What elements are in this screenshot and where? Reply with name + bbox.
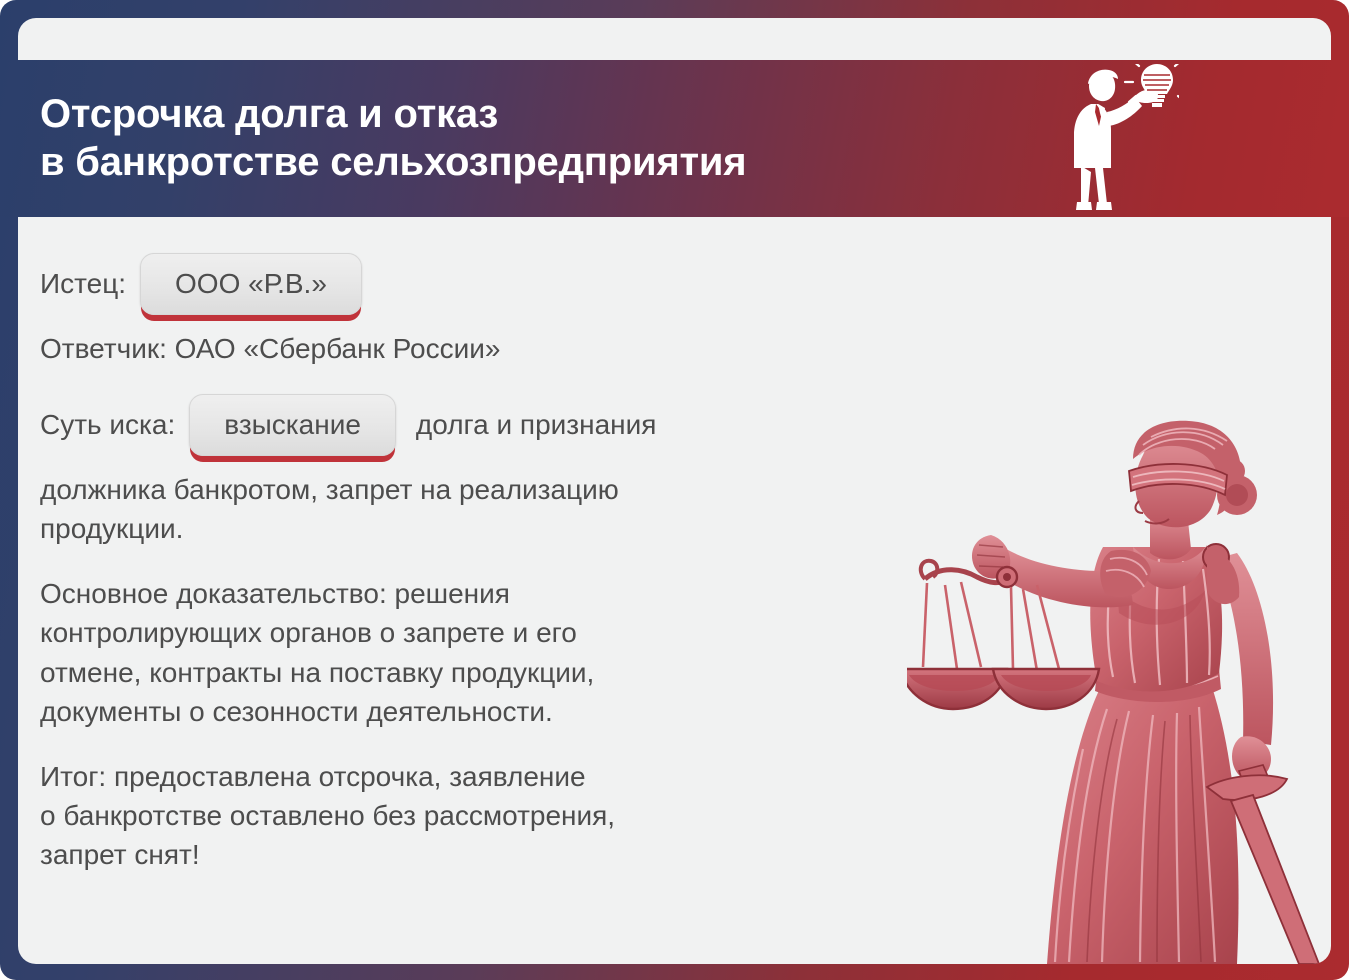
businessman-with-lightbulb-icon xyxy=(1069,64,1179,214)
plaintiff-label: Истец: xyxy=(40,264,126,303)
page-title: Отсрочка долга и отказ в банкротстве сел… xyxy=(0,91,1069,185)
claim-label: Суть иска: xyxy=(40,405,175,444)
body-content: Истец: ООО «Р.В.» Ответчик: ОАО «Сбербан… xyxy=(18,217,1331,964)
claim-badge[interactable]: взыскание xyxy=(189,394,396,456)
header-band: Отсрочка долга и отказ в банкротстве сел… xyxy=(0,60,1349,217)
claim-tail-text: долга и признания xyxy=(416,405,657,444)
outcome-paragraph: Итог: предоставлена отсрочка, заявление … xyxy=(40,757,920,875)
slide-frame: Истец: ООО «Р.В.» Ответчик: ОАО «Сбербан… xyxy=(0,0,1349,980)
plaintiff-row: Истец: ООО «Р.В.» xyxy=(40,253,1291,315)
evidence-paragraph: Основное доказательство: решения контрол… xyxy=(40,574,920,731)
claim-row: Суть иска: взыскание долга и признания xyxy=(40,394,1291,456)
plaintiff-badge[interactable]: ООО «Р.В.» xyxy=(140,253,362,315)
claim-continuation: должника банкротом, запрет на реализацию… xyxy=(40,470,920,548)
defendant-line: Ответчик: ОАО «Сбербанк России» xyxy=(40,329,920,368)
